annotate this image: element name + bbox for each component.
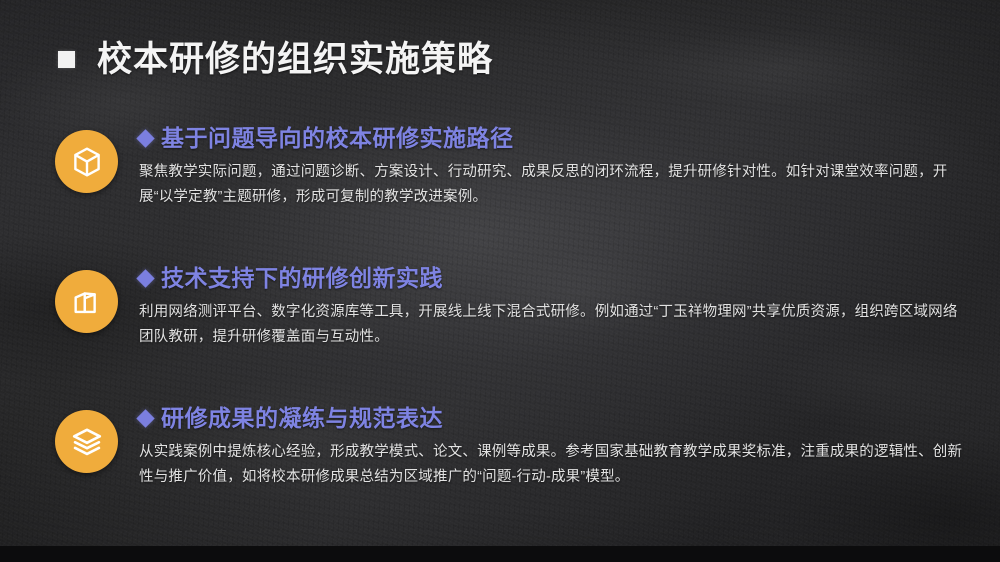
- cube-icon-badge: [55, 130, 118, 193]
- page-title: 校本研修的组织实施策略: [97, 42, 493, 77]
- building-blocks-icon: [70, 285, 104, 319]
- section-body: 技术支持下的研修创新实践 利用网络测评平台、数字化资源库等工具，开展线上线下混合…: [139, 266, 965, 350]
- content-section: 技术支持下的研修创新实践 利用网络测评平台、数字化资源库等工具，开展线上线下混合…: [55, 266, 965, 350]
- layers-icon-badge: [55, 410, 118, 473]
- section-title: 基于问题导向的校本研修实施路径: [161, 126, 514, 151]
- diamond-bullet-icon: [136, 129, 154, 147]
- section-heading-row: 基于问题导向的校本研修实施路径: [139, 126, 965, 151]
- section-title: 技术支持下的研修创新实践: [161, 266, 443, 291]
- section-heading-row: 技术支持下的研修创新实践: [139, 266, 965, 291]
- building-blocks-icon-badge: [55, 270, 118, 333]
- slide-title-row: 校本研修的组织实施策略: [58, 42, 493, 77]
- diamond-bullet-icon: [136, 409, 154, 427]
- section-heading-row: 研修成果的凝练与规范表达: [139, 406, 965, 431]
- slide-bottom-strip: [0, 546, 1000, 562]
- cube-icon: [70, 145, 104, 179]
- content-section: 研修成果的凝练与规范表达 从实践案例中提炼核心经验，形成教学模式、论文、课例等成…: [55, 406, 965, 490]
- square-bullet-icon: [58, 51, 75, 68]
- presentation-slide: 校本研修的组织实施策略 基于问题导向的校本研修实施路径 聚焦教学实际问题，通过问…: [0, 0, 1000, 562]
- content-section: 基于问题导向的校本研修实施路径 聚焦教学实际问题，通过问题诊断、方案设计、行动研…: [55, 126, 965, 210]
- layers-icon: [70, 425, 104, 459]
- section-paragraph: 从实践案例中提炼核心经验，形成教学模式、论文、课例等成果。参考国家基础教育教学成…: [139, 440, 965, 490]
- section-paragraph: 聚焦教学实际问题，通过问题诊断、方案设计、行动研究、成果反思的闭环流程，提升研修…: [139, 160, 965, 210]
- section-paragraph: 利用网络测评平台、数字化资源库等工具，开展线上线下混合式研修。例如通过“丁玉祥物…: [139, 300, 965, 350]
- diamond-bullet-icon: [136, 269, 154, 287]
- section-title: 研修成果的凝练与规范表达: [161, 406, 443, 431]
- section-body: 研修成果的凝练与规范表达 从实践案例中提炼核心经验，形成教学模式、论文、课例等成…: [139, 406, 965, 490]
- section-body: 基于问题导向的校本研修实施路径 聚焦教学实际问题，通过问题诊断、方案设计、行动研…: [139, 126, 965, 210]
